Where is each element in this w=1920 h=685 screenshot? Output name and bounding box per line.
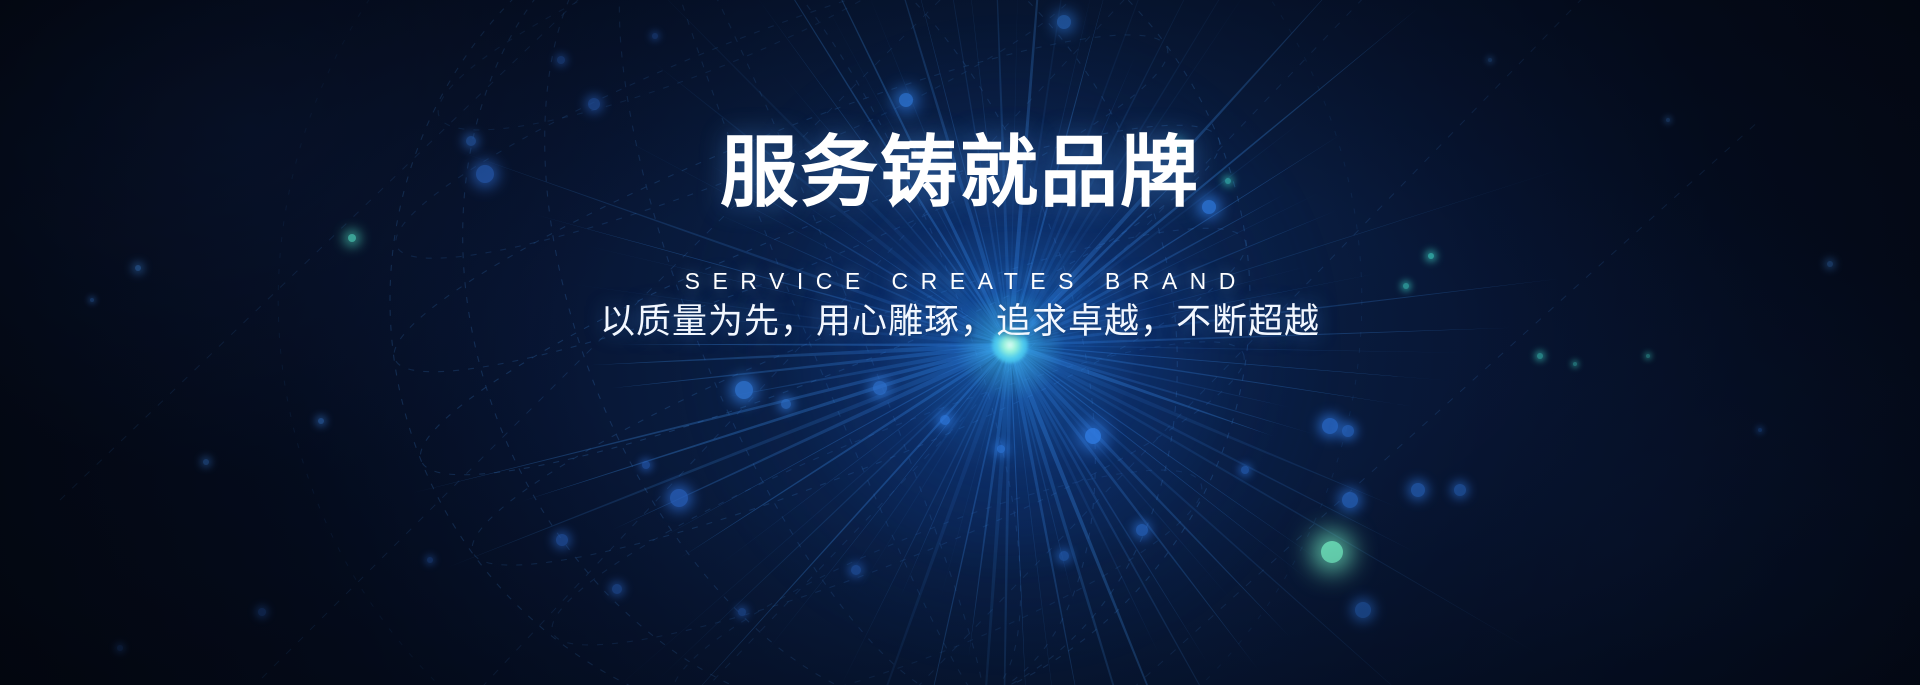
hero-title: 服务铸就品牌 bbox=[0, 130, 1920, 214]
hero-tagline: 以质量为先，用心雕琢，追求卓越，不断超越 bbox=[0, 298, 1920, 346]
hero-banner: 服务铸就品牌 SERVICE CREATES BRAND 以质量为先，用心雕琢，… bbox=[0, 0, 1920, 685]
hero-copy: 服务铸就品牌 SERVICE CREATES BRAND 以质量为先，用心雕琢，… bbox=[0, 0, 1920, 685]
hero-subtitle: SERVICE CREATES BRAND bbox=[0, 266, 1920, 296]
